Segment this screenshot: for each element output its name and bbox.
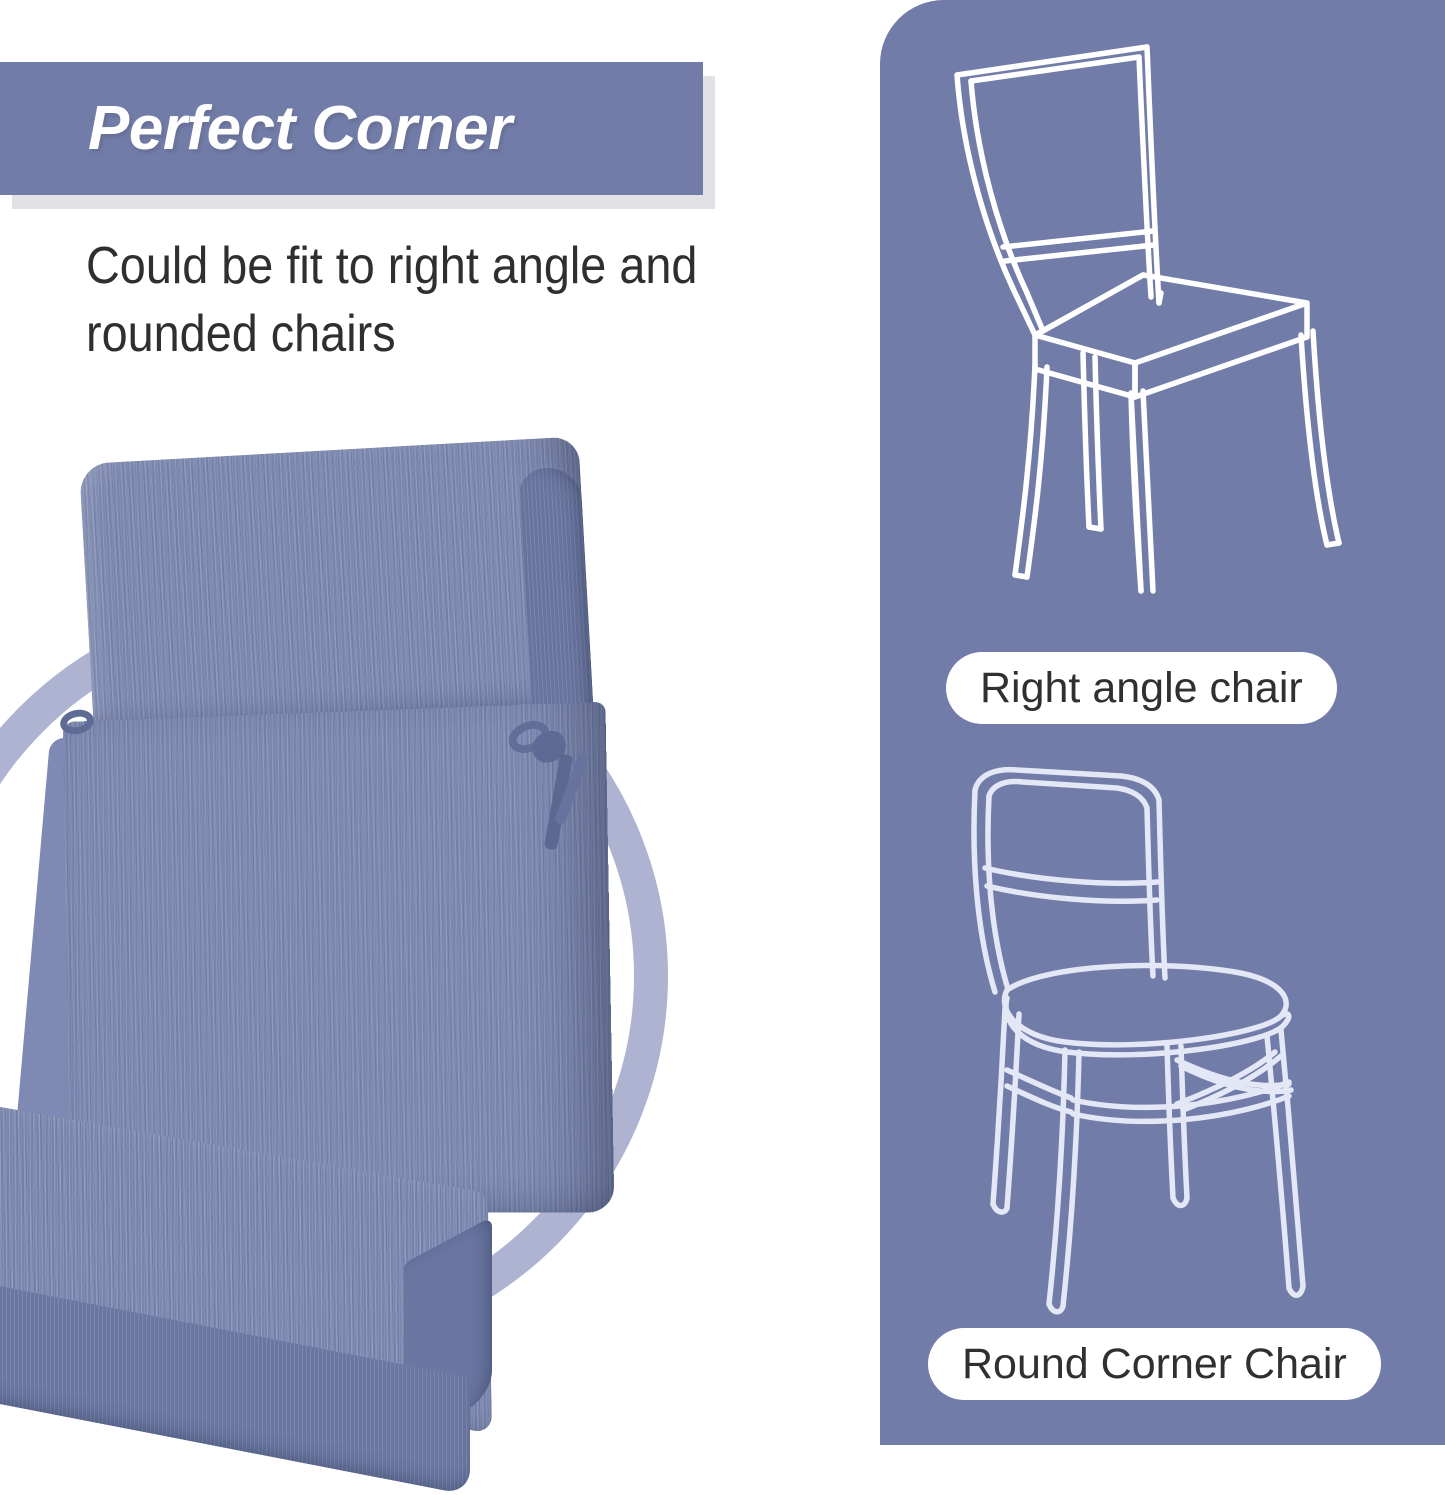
left-content-column: Perfect Corner Could be fit to right ang… [0,0,880,1445]
label-right-angle-chair: Right angle chair [946,652,1337,724]
chair-types-panel: Right angle chair [880,0,1445,1445]
label-round-corner-chair-text: Round Corner Chair [962,1340,1347,1389]
round-corner-chair-illustration [945,760,1375,1340]
label-round-corner-chair: Round Corner Chair [928,1328,1381,1400]
product-photo-chair-cushion [0,420,640,1320]
tie-loop-shape [58,707,96,738]
label-right-angle-chair-text: Right angle chair [980,664,1303,713]
cushion-back-top-pillow [79,436,593,728]
title-banner: Perfect Corner [0,62,703,195]
subtitle-text: Could be fit to right angle and rounded … [86,233,770,368]
page-title: Perfect Corner [88,93,512,164]
cushion-back-top-rolled-edge [518,467,594,720]
cushion-tie-knot-right [500,708,610,868]
cushion-tie-loop-left [60,706,106,746]
right-angle-chair-illustration [935,35,1375,635]
